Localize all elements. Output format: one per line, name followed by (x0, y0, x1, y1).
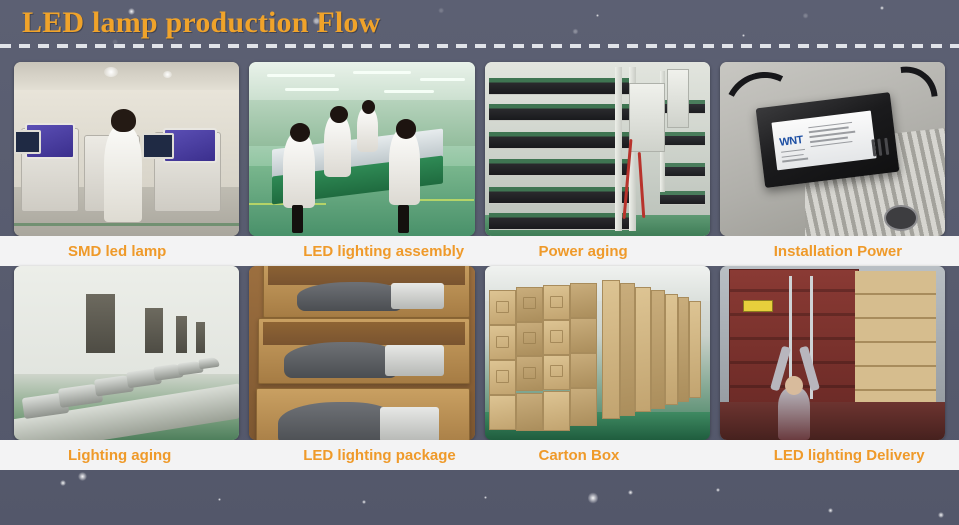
sparkle-dot (362, 500, 366, 504)
photo-assembly-line (249, 62, 474, 236)
page-title: LED lamp production Flow (22, 6, 380, 40)
flow-tile-smd-led-lamp[interactable] (14, 62, 239, 236)
photo-container-loading (720, 266, 945, 440)
flow-tile-led-lighting-package[interactable] (249, 266, 474, 440)
banner-header: LED lamp production Flow (0, 0, 959, 52)
flow-tile-led-lighting-delivery[interactable] (720, 266, 945, 440)
caption-led-lighting-delivery: LED lighting Delivery (720, 440, 945, 470)
caption-smd-led-lamp: SMD led lamp (14, 236, 239, 266)
flow-tile-installation-power[interactable]: WNT (720, 62, 945, 236)
caption-led-lighting-package: LED lighting package (249, 440, 474, 470)
sparkle-dot (60, 480, 66, 486)
sparkle-dot (628, 490, 633, 495)
photo-carton-stacks (485, 266, 710, 440)
caption-carton-box: Carton Box (485, 440, 710, 470)
sparkle-dot (484, 496, 487, 499)
sparkle-dot (716, 488, 720, 492)
sparkle-dot (78, 472, 87, 481)
photo-smd-production (14, 62, 239, 236)
sparkle-dot (588, 492, 598, 504)
flow-tile-led-lighting-assembly[interactable] (249, 62, 474, 236)
driver-brand-label: WNT (779, 135, 804, 150)
flow-row-1-captions: SMD led lamp LED lighting assembly Power… (0, 236, 959, 266)
sparkle-dot (828, 508, 833, 513)
dashed-divider (0, 44, 959, 48)
flow-tile-power-aging[interactable] (485, 62, 710, 236)
flow-row-1-tiles: WNT (0, 62, 959, 236)
photo-led-driver: WNT (720, 62, 945, 236)
caption-installation-power: Installation Power (720, 236, 945, 266)
sparkle-dot (218, 498, 221, 501)
flow-tile-carton-box[interactable] (485, 266, 710, 440)
caption-lighting-aging: Lighting aging (14, 440, 239, 470)
photo-lighting-aging (14, 266, 239, 440)
photo-power-aging-racks (485, 62, 710, 236)
flow-row-2-tiles (0, 266, 959, 440)
production-flow-banner: LED lamp production Flow (0, 0, 959, 525)
sparkle-dot (938, 512, 944, 518)
flow-row-2-captions: Lighting aging LED lighting package Cart… (0, 440, 959, 470)
caption-power-aging: Power aging (485, 236, 710, 266)
flow-tile-lighting-aging[interactable] (14, 266, 239, 440)
caption-led-lighting-assembly: LED lighting assembly (249, 236, 474, 266)
photo-lamps-in-cartons (249, 266, 474, 440)
